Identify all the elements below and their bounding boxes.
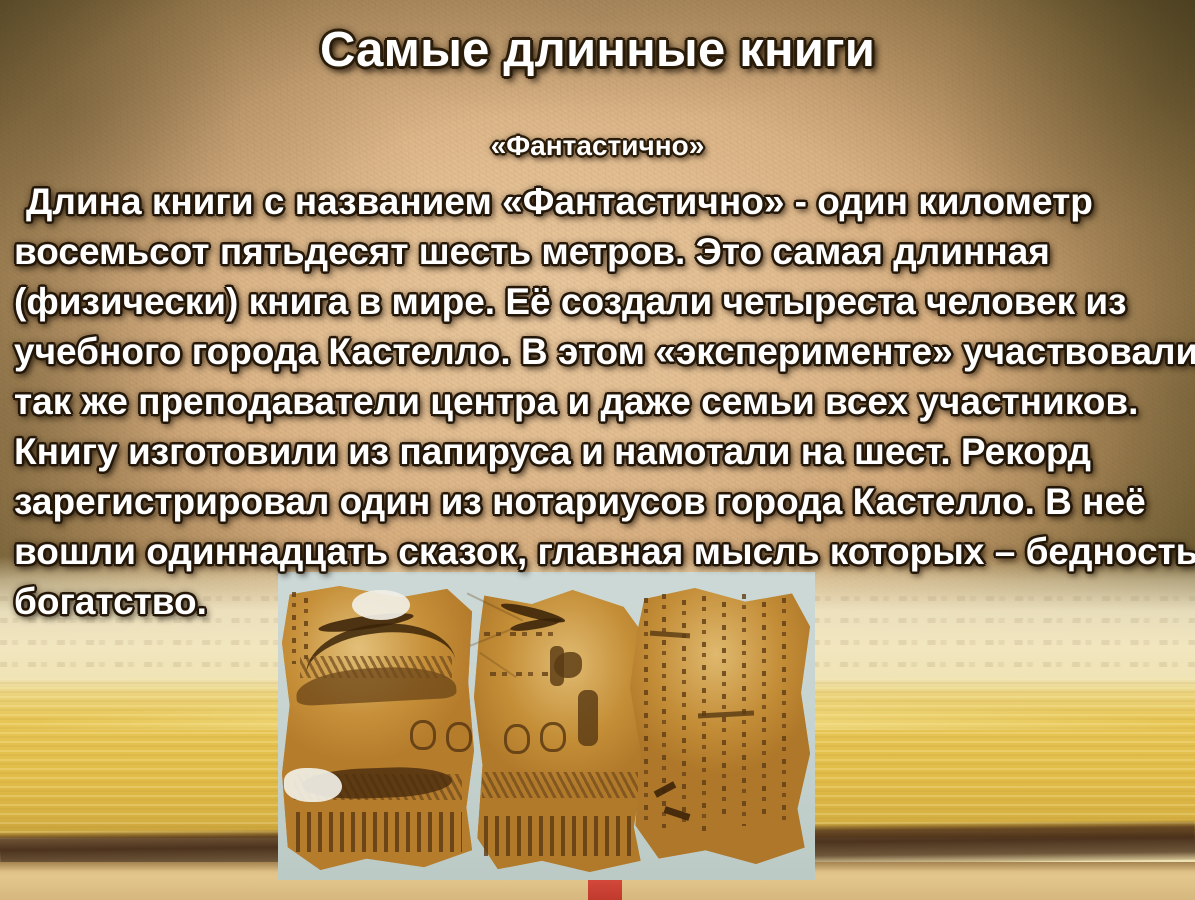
hieroglyph-column-r1 bbox=[644, 598, 648, 824]
body-line: зарегистрировал один из нотариусов город… bbox=[14, 477, 1182, 527]
basket-glyph-m1 bbox=[504, 724, 530, 754]
body-text-block: Длина книги с названием «Фантастично» - … bbox=[14, 177, 1182, 627]
lower-weave-texture-middle bbox=[482, 772, 638, 798]
basket-glyph-l2 bbox=[446, 722, 472, 752]
body-line: (физически) книга в мире. Её создали чет… bbox=[14, 277, 1182, 327]
body-line: богатство. bbox=[14, 577, 1182, 627]
body-line: Длина книги с названием «Фантастично» - … bbox=[14, 177, 1182, 227]
shrine-fence-middle bbox=[484, 816, 638, 856]
body-line: вошли одиннадцать сказок, главная мысль … bbox=[14, 527, 1182, 577]
serpent-glyph-m bbox=[554, 652, 582, 678]
slide-canvas: Самые длинные книги «Фантастично» Длина … bbox=[0, 0, 1195, 900]
body-line: так же преподаватели центра и даже семьи… bbox=[14, 377, 1182, 427]
basket-glyph-m2 bbox=[540, 722, 566, 752]
section-subtitle: «Фантастично» bbox=[0, 130, 1195, 162]
papyrus-damage-chip-left bbox=[284, 768, 342, 802]
body-line: учебного города Кастелло. В этом «экспер… bbox=[14, 327, 1182, 377]
body-line: восемьсот пятьдесят шесть метров. Это са… bbox=[14, 227, 1182, 277]
basket-glyph-l1 bbox=[410, 720, 436, 750]
hieroglyph-column-r8 bbox=[782, 598, 786, 822]
body-line: Книгу изготовили из папируса и намотали … bbox=[14, 427, 1182, 477]
red-bookmark-mark bbox=[588, 878, 622, 900]
barque-weave-texture bbox=[300, 656, 452, 678]
standing-figure-glyph-m bbox=[578, 690, 598, 746]
page-title: Самые длинные книги bbox=[0, 22, 1195, 78]
hieroglyph-row-m2 bbox=[490, 672, 550, 676]
shrine-fence-left bbox=[296, 812, 462, 852]
hieroglyph-column-r7 bbox=[762, 602, 766, 816]
